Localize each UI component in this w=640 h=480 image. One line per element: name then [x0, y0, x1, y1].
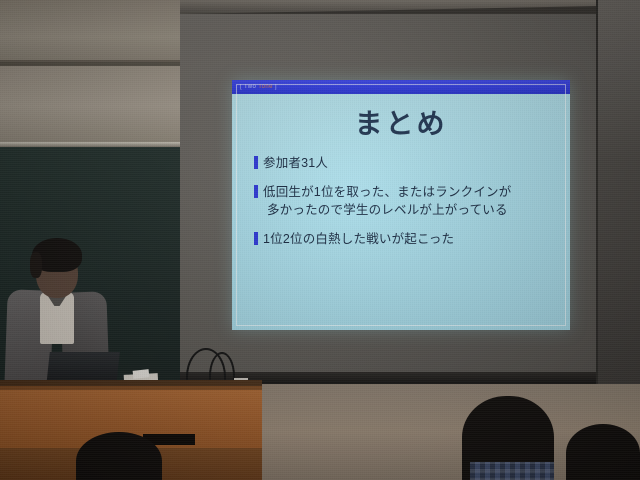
slide-bullet-item: 参加者31人	[254, 154, 554, 172]
slide-bullet-item: 1位2位の白熱した戦いが起こった	[254, 230, 554, 248]
bullet-text: 低回生が1位を取った、またはランクインが 多かったので学生のレベルが上がっている	[263, 183, 511, 219]
lecture-hall-photo: [ Two Tone ] まとめ 参加者31人 低回生が1位を取った、またはラン…	[0, 0, 640, 480]
bullet-marker-icon	[254, 156, 258, 169]
projected-slide: [ Two Tone ] まとめ 参加者31人 低回生が1位を取った、またはラン…	[232, 80, 570, 330]
slide-header-prefix: [ Two	[240, 84, 256, 90]
bullet-text: 1位2位の白熱した戦いが起こった	[263, 230, 454, 248]
bullet-line-1: 参加者31人	[263, 156, 328, 170]
bullet-line-1: 1位2位の白熱した戦いが起こった	[263, 232, 454, 246]
bullet-line-1: 低回生が1位を取った、またはランクインが	[263, 185, 511, 199]
presenter-hair-side	[30, 252, 42, 278]
audience-plaid-shirt-overlay	[470, 462, 554, 480]
paper-sheet-small	[133, 369, 150, 379]
back-wall-middle	[0, 66, 200, 146]
bullet-marker-icon	[254, 232, 258, 245]
slide-header-accent: Tone	[258, 84, 273, 90]
slide-title: まとめ	[232, 102, 570, 142]
right-wall-column	[598, 0, 640, 400]
slide-bullet-item: 低回生が1位を取った、またはランクインが 多かったので学生のレベルが上がっている	[254, 183, 554, 219]
slide-header-bar: [ Two Tone ]	[232, 80, 570, 94]
bullet-marker-icon	[254, 185, 258, 198]
slide-bullet-list: 参加者31人 低回生が1位を取った、またはランクインが 多かったので学生のレベル…	[254, 154, 554, 259]
slide-header-label: [ Two Tone ]	[240, 84, 277, 90]
audience-head	[566, 424, 640, 480]
bullet-line-2: 多かったので学生のレベルが上がっている	[267, 201, 511, 219]
slide-header-suffix: ]	[275, 84, 277, 90]
bullet-text: 参加者31人	[263, 154, 328, 172]
back-wall-upper	[0, 0, 200, 62]
